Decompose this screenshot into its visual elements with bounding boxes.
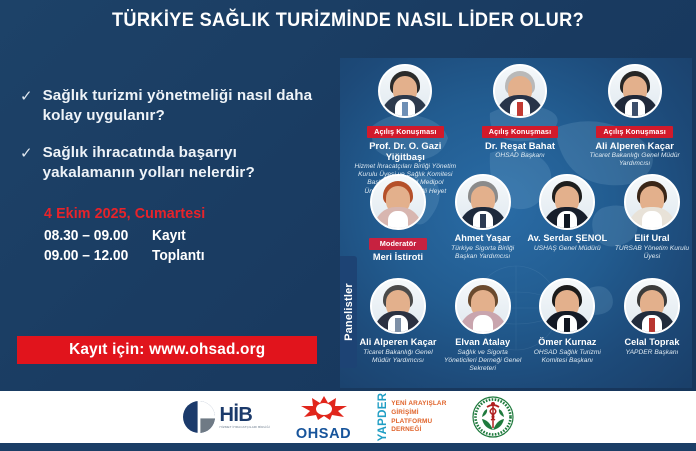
panelists-tab[interactable]: Panelistler [340, 256, 357, 368]
status-badge: Açılış Konuşması [367, 126, 443, 138]
avatar [624, 278, 680, 334]
bullet-text: Sağlık turizmi yönetmeliği nasıl daha ko… [43, 86, 320, 126]
panelists-row-2: Ali Alperen Kaçar Ticaret Bakanlığı Gene… [358, 278, 692, 374]
panelist-name: Elif Ural [612, 233, 692, 244]
avatar [370, 278, 426, 334]
hib-logo: HİB HİZMET İHRACATÇILARI BİRLİĞİ [182, 400, 270, 434]
hib-wordmark: HİB [220, 405, 270, 425]
panelist-role: YAPDER Başkanı [612, 349, 692, 357]
bullet-list: ✓ Sağlık turizmi yönetmeliği nasıl daha … [0, 78, 336, 183]
schedule-label: Toplantı [152, 246, 205, 266]
panelist-card[interactable]: Ömer Kurnaz OHSAD Sağlık Turizmi Komites… [527, 278, 607, 374]
panelist-card[interactable]: Av. Serdar ŞENOL USHAŞ Genel Müdürü [527, 174, 607, 264]
panelist-name: Ömer Kurnaz [527, 337, 607, 348]
avatar [624, 174, 680, 230]
avatar [455, 174, 511, 230]
panelist-role: TURSAB Yönetim Kurulu Üyesi [612, 245, 692, 261]
yapder-logo: YAPDER YENİ ARAYIŞLAR GİRİŞİMİ PLATFORMU… [377, 400, 446, 433]
yapder-line: DERNEĞİ [391, 426, 446, 434]
yapder-line: GİRİŞİMİ [391, 409, 446, 417]
avatar [370, 174, 426, 230]
health-seal-logo [472, 396, 514, 438]
ohsad-logo: OHSAD [296, 394, 351, 441]
speakers-panel: Panelistler Açılış Konuşması Prof. Dr. O… [340, 58, 692, 388]
panelist-name: Ahmet Yaşar [443, 233, 523, 244]
speaker-role: Ticaret Bakanlığı Genel Müdür Yardımcısı [583, 152, 687, 168]
speaker-name: Dr. Reşat Bahat [468, 140, 572, 151]
panelist-role: Türkiye Sigorta Birliği Başkan Yardımcıs… [443, 245, 523, 261]
status-badge: Açılış Konuşması [482, 126, 558, 138]
hib-text-block: HİB HİZMET İHRACATÇILARI BİRLİĞİ [220, 405, 270, 429]
panelist-card[interactable]: Celal Toprak YAPDER Başkanı [612, 278, 692, 374]
check-icon: ✓ [20, 86, 33, 106]
schedule-block: 4 Ekim 2025, Cumartesi 08.30 – 09.00 Kay… [0, 205, 336, 266]
hib-subtitle: HİZMET İHRACATÇILARI BİRLİĞİ [220, 425, 270, 429]
yapder-line: PLATFORMU [391, 418, 446, 426]
panelists-tab-label: Panelistler [343, 283, 355, 341]
panelist-card[interactable]: Moderatör Meri İstiroti [358, 174, 438, 264]
list-item: ✓ Sağlık ihracatında başarıyı yakalamanı… [20, 143, 320, 183]
panelist-card[interactable]: Ahmet Yaşar Türkiye Sigorta Birliği Başk… [443, 174, 523, 264]
schedule-time: 09.00 – 12.00 [44, 246, 147, 266]
registration-cta-button[interactable]: Kayıt için: www.ohsad.org [17, 336, 317, 364]
check-icon: ✓ [20, 143, 33, 163]
panelist-role: Sağlık ve Sigorta Yöneticileri Derneği G… [443, 349, 523, 374]
avatar [539, 174, 595, 230]
poster-title-bar: TÜRKİYE SAĞLIK TURİZMİNDE NASIL LİDER OL… [0, 10, 696, 31]
avatar [493, 64, 547, 118]
registration-cta-label: Kayıt için: www.ohsad.org [69, 341, 265, 359]
ohsad-mark-icon [297, 394, 351, 427]
speaker-role: OHSAD Başkanı [468, 152, 572, 160]
panelist-role: OHSAD Sağlık Turizmi Komitesi Başkanı [527, 349, 607, 365]
moderator-badge: Moderatör [369, 238, 428, 250]
schedule-label: Kayıt [152, 226, 186, 246]
yapder-line: YENİ ARAYIŞLAR [391, 400, 446, 408]
panelist-name: Elvan Atalay [443, 337, 523, 348]
panelist-card[interactable]: Elif Ural TURSAB Yönetim Kurulu Üyesi [612, 174, 692, 264]
panelist-name: Av. Serdar ŞENOL [527, 233, 607, 244]
list-item: ✓ Sağlık turizmi yönetmeliği nasıl daha … [20, 86, 320, 126]
avatar [608, 64, 662, 118]
avatar [455, 278, 511, 334]
ohsad-wordmark: OHSAD [296, 427, 351, 441]
health-seal-icon [472, 396, 514, 438]
hib-mark-icon [182, 400, 216, 434]
speaker-name: Ali Alperen Kaçar [583, 140, 687, 151]
page-title: TÜRKİYE SAĞLIK TURİZMİNDE NASIL LİDER OL… [24, 10, 671, 31]
status-badge: Açılış Konuşması [596, 126, 672, 138]
avatar [539, 278, 595, 334]
poster-root: TÜRKİYE SAĞLIK TURİZMİNDE NASIL LİDER OL… [0, 0, 696, 451]
panelist-name: Celal Toprak [612, 337, 692, 348]
panelist-role: USHAŞ Genel Müdürü [527, 245, 607, 253]
panelist-card[interactable]: Elvan Atalay Sağlık ve Sigorta Yöneticil… [443, 278, 523, 374]
bullet-text: Sağlık ihracatında başarıyı yakalamanın … [43, 143, 320, 183]
footer-accent-strip [0, 443, 696, 451]
schedule-row: 09.00 – 12.00 Toplantı [44, 246, 336, 266]
event-date: 4 Ekim 2025, Cumartesi [44, 205, 321, 222]
speaker-name: Prof. Dr. O. Gazi Yiğitbaşı [353, 140, 457, 162]
avatar [378, 64, 432, 118]
schedule-time: 08.30 – 09.00 [44, 226, 147, 246]
schedule-row: 08.30 – 09.00 Kayıt [44, 226, 336, 246]
panelist-role: Ticaret Bakanlığı Genel Müdür Yardımcısı [358, 349, 438, 365]
yapder-lines-block: YENİ ARAYIŞLAR GİRİŞİMİ PLATFORMU DERNEĞ… [391, 400, 446, 433]
panelist-card[interactable]: Ali Alperen Kaçar Ticaret Bakanlığı Gene… [358, 278, 438, 374]
panelist-name: Ali Alperen Kaçar [358, 337, 438, 348]
yapder-vertical-wordmark: YAPDER [377, 400, 389, 433]
panelists-row-1: Moderatör Meri İstiroti Ahmet Yaşar Türk… [358, 174, 692, 264]
left-info-column: ✓ Sağlık turizmi yönetmeliği nasıl daha … [0, 78, 336, 378]
panelist-name: Meri İstiroti [358, 252, 438, 263]
footer-logo-bar: HİB HİZMET İHRACATÇILARI BİRLİĞİ OHSAD Y… [0, 391, 696, 443]
